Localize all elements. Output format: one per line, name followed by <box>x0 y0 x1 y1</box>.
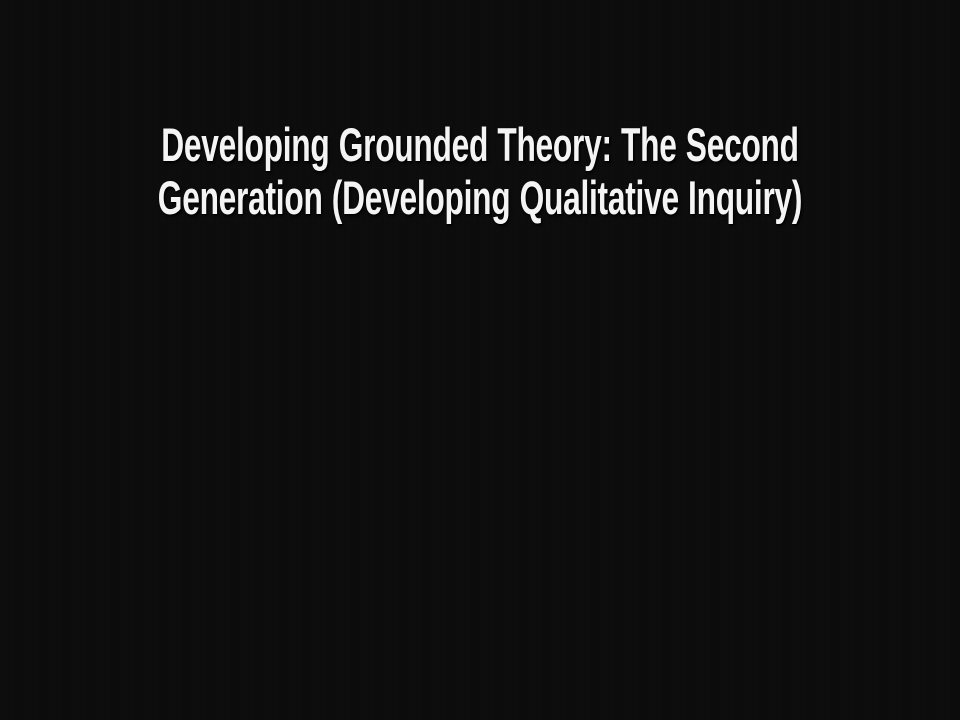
cover-canvas: Developing Grounded Theory: The Second G… <box>0 0 960 720</box>
title-line-1: Developing Grounded Theory: The Second <box>156 118 804 171</box>
background-noise-overlay <box>0 0 960 720</box>
page-title: Developing Grounded Theory: The Second G… <box>0 118 960 224</box>
title-line-2: Generation (Developing Qualitative Inqui… <box>156 171 804 224</box>
